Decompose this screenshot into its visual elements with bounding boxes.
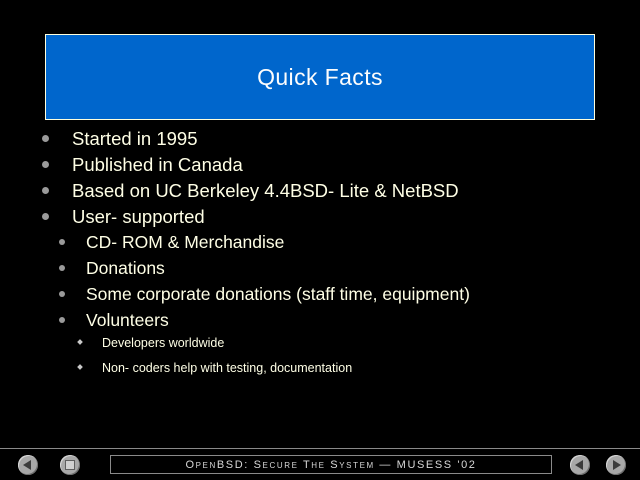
bullet-label: User- supported [72,206,205,228]
bullet-label: CD- ROM & Merchandise [86,232,284,253]
bullet-item: Based on UC Berkeley 4.4BSD- Lite & NetB… [0,180,640,206]
bullet-item: Volunteers [0,310,640,336]
bullet-item: Some corporate donations (staff time, eq… [0,284,640,310]
triangle-left-icon [575,460,583,470]
bullet-label: Developers worldwide [102,336,224,350]
bullet-label: Volunteers [86,310,169,331]
bullet-item: User- supported [0,206,640,232]
slide-footer: OpenBSD: Secure The System — MUSESS '02 [0,449,640,480]
bullet-label: Published in Canada [72,154,243,176]
bullet-item: CD- ROM & Merchandise [0,232,640,258]
bullet-item: Donations [0,258,640,284]
footer-title-text: OpenBSD: Secure The System — MUSESS '02 [185,459,476,471]
next-slide-button[interactable] [606,455,626,475]
slide-body: Started in 1995 Published in Canada Base… [0,128,640,386]
bullet-item: Developers worldwide [0,336,640,361]
bullet-item: Started in 1995 [0,128,640,154]
triangle-left-icon [23,460,31,470]
bullet-label: Started in 1995 [72,128,197,150]
square-icon [65,460,75,470]
triangle-right-icon [613,460,621,470]
footer-title-box: OpenBSD: Secure The System — MUSESS '02 [110,455,552,474]
slide-title-box: Quick Facts [45,34,595,120]
first-slide-button[interactable] [18,455,38,475]
page-title: Quick Facts [257,66,383,89]
stop-button[interactable] [60,455,80,475]
bullet-label: Based on UC Berkeley 4.4BSD- Lite & NetB… [72,180,459,202]
bullet-label: Donations [86,258,165,279]
bullet-item: Published in Canada [0,154,640,180]
bullet-label: Non- coders help with testing, documenta… [102,361,352,375]
bullet-item: Non- coders help with testing, documenta… [0,361,640,386]
bullet-label: Some corporate donations (staff time, eq… [86,284,470,305]
previous-slide-button[interactable] [570,455,590,475]
presentation-slide: Quick Facts Started in 1995 Published in… [0,0,640,480]
